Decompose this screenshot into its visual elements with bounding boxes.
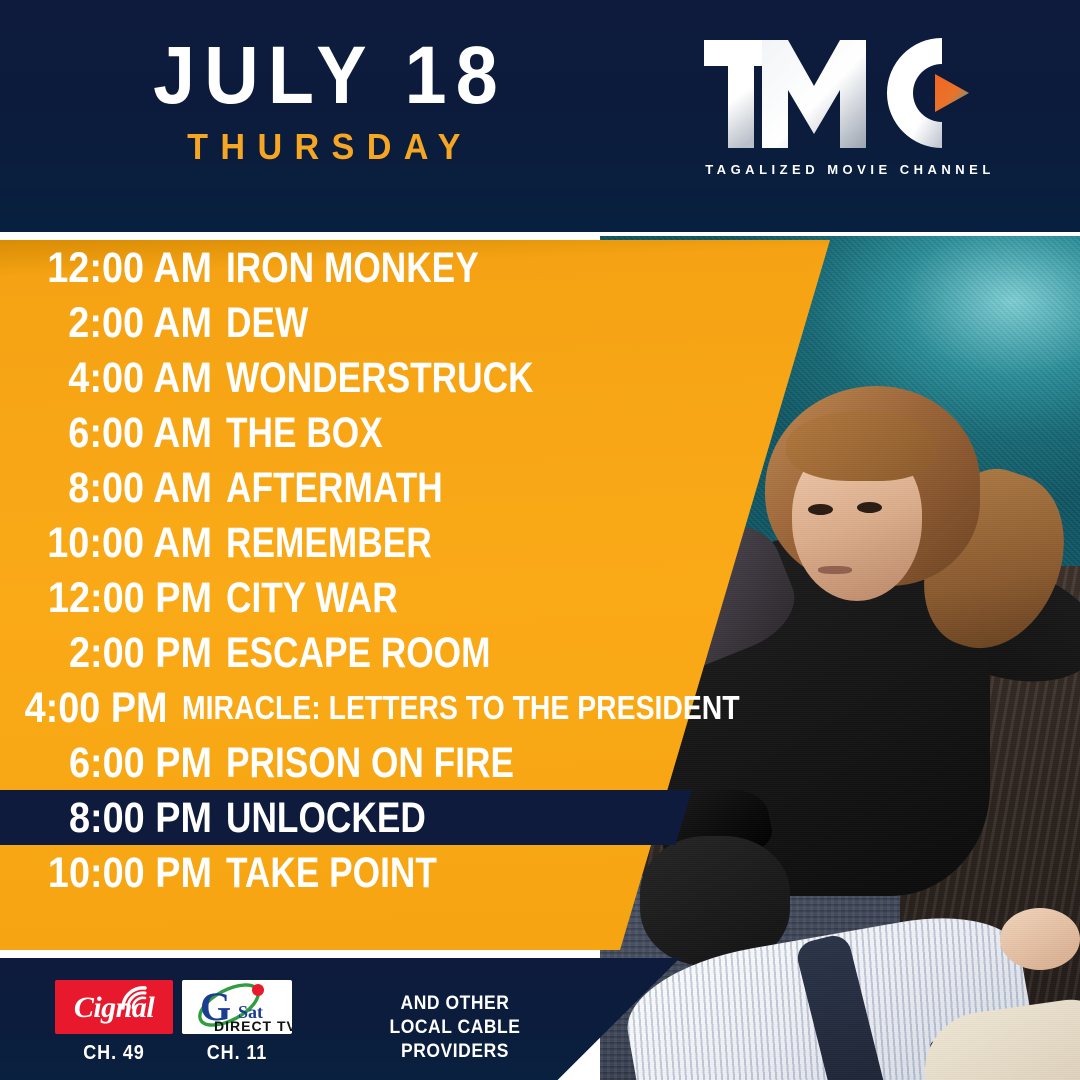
schedule-time: 4:00 PM: [20, 685, 167, 731]
schedule-title: AFTERMATH: [226, 465, 443, 511]
schedule-time: 8:00 AM: [25, 465, 212, 511]
other-providers-note: AND OTHER LOCAL CABLE PROVIDERS: [340, 992, 570, 1064]
schedule-row[interactable]: 4:00 AMWONDERSTRUCK: [0, 350, 830, 405]
schedule-title: IRON MONKEY: [226, 245, 479, 291]
schedule-title: PRISON ON FIRE: [226, 740, 514, 786]
schedule-row[interactable]: 12:00 AMIRON MONKEY: [0, 240, 830, 295]
schedule-time: 10:00 AM: [25, 520, 212, 566]
schedule-time: 12:00 PM: [25, 575, 212, 621]
tv-schedule-poster: JULY 18 THURSDAY: [0, 0, 1080, 1080]
gsat-logo: G Sat DIRECT TV: [182, 980, 292, 1034]
date-weekday: THURSDAY: [17, 126, 644, 168]
schedule-title: THE BOX: [226, 410, 383, 456]
play-triangle-icon: [935, 74, 969, 112]
schedule-title: WONDERSTRUCK: [226, 355, 534, 401]
schedule-row[interactable]: 10:00 PMTAKE POINT: [0, 845, 830, 900]
svg-text:DIRECT TV: DIRECT TV: [214, 1018, 292, 1034]
tmc-logo-mark: [700, 34, 1000, 159]
cignal-wordmark: Cignal: [55, 991, 173, 1025]
schedule-title: ESCAPE ROOM: [226, 630, 490, 676]
schedule-row[interactable]: 8:00 AMAFTERMATH: [0, 460, 830, 515]
schedule-title: CITY WAR: [226, 575, 398, 621]
photo-woman-eye-right: [857, 502, 882, 513]
schedule-title: UNLOCKED: [226, 795, 426, 841]
gsat-logo-mark: G Sat DIRECT TV: [182, 980, 292, 1034]
schedule-row[interactable]: 2:00 PMESCAPE ROOM: [0, 625, 830, 680]
schedule-row[interactable]: 10:00 AMREMEMBER: [0, 515, 830, 570]
schedule-time: 10:00 PM: [25, 850, 212, 896]
schedule-time: 12:00 AM: [25, 245, 212, 291]
schedule-time: 6:00 PM: [25, 740, 212, 786]
schedule-time: 6:00 AM: [25, 410, 212, 456]
schedule-row[interactable]: 4:00 PMMIRACLE: LETTERS TO THE PRESIDENT: [0, 680, 830, 735]
tmc-logo-tagline: TAGALIZED MOVIE CHANNEL: [700, 162, 1000, 177]
gsat-channel-number: CH. 11: [188, 1042, 287, 1065]
other-providers-line2: LOCAL CABLE PROVIDERS: [340, 1016, 570, 1064]
date-main: JULY 18: [26, 34, 633, 118]
schedule-title: REMEMBER: [226, 520, 432, 566]
schedule-time: 2:00 PM: [25, 630, 212, 676]
schedule-time: 8:00 PM: [25, 795, 212, 841]
other-providers-line1: AND OTHER: [340, 992, 570, 1016]
cignal-channel-number: CH. 49: [61, 1042, 167, 1065]
schedule-time: 2:00 AM: [25, 300, 212, 346]
schedule-title: DEW: [226, 300, 308, 346]
schedule-list: 12:00 AMIRON MONKEY2:00 AMDEW4:00 AMWOND…: [0, 240, 830, 950]
schedule-row[interactable]: 12:00 PMCITY WAR: [0, 570, 830, 625]
schedule-row[interactable]: 6:00 AMTHE BOX: [0, 405, 830, 460]
schedule-row[interactable]: 2:00 AMDEW: [0, 295, 830, 350]
schedule-row[interactable]: 6:00 PMPRISON ON FIRE: [0, 735, 830, 790]
schedule-title: MIRACLE: LETTERS TO THE PRESIDENT: [182, 690, 740, 726]
cignal-logo: Cignal: [55, 980, 173, 1034]
schedule-time: 4:00 AM: [25, 355, 212, 401]
schedule-row[interactable]: 8:00 PMUNLOCKED: [0, 790, 830, 845]
tmc-logo: TAGALIZED MOVIE CHANNEL: [700, 34, 1000, 194]
photo-man-head: [1000, 908, 1080, 970]
schedule-title: TAKE POINT: [226, 850, 437, 896]
date-block: JULY 18 THURSDAY: [0, 34, 660, 168]
